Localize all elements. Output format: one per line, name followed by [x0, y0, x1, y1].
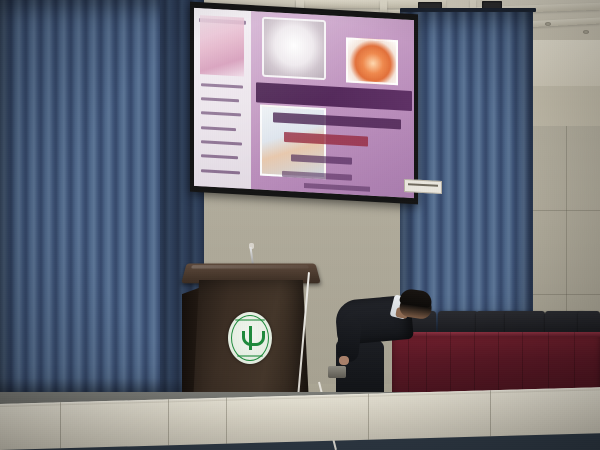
slide-left-photo	[200, 15, 245, 76]
slide-left-panel	[194, 8, 251, 189]
slide-bottom-text	[304, 183, 370, 192]
sign-text-line	[408, 183, 438, 187]
text-line	[201, 112, 241, 117]
stage-panel-seam	[490, 390, 491, 436]
shrimp-platter-photo	[346, 38, 398, 86]
text-line	[201, 97, 239, 102]
lectern-top-highlight	[191, 265, 309, 268]
stage-panel-seam	[60, 402, 61, 448]
university-emblem	[228, 312, 272, 364]
auditorium-photo: 南美白对虾成虾淡水养殖 蜀洋水产有限责任公司 “虾” 类行业资讯 项目负责人：陈…	[0, 0, 600, 450]
wall-sign	[404, 179, 442, 194]
screen-surface	[194, 8, 414, 198]
projection-screen[interactable]	[190, 2, 418, 205]
stage-curtain-left	[0, 0, 196, 412]
emblem-bottom-arc	[237, 355, 263, 357]
av-control-box	[328, 366, 346, 378]
curtain-rail	[400, 8, 536, 12]
text-line	[201, 155, 238, 160]
cooked-shrimp-dish-photo	[262, 17, 325, 80]
stage-panel-seam	[168, 399, 169, 445]
presentation-slide	[194, 8, 414, 198]
ceiling-downlight	[545, 22, 551, 26]
text-line	[201, 83, 243, 88]
slide-left-text-lines	[201, 83, 244, 174]
text-line	[201, 126, 236, 131]
text-line	[201, 140, 242, 145]
ceiling-downlight	[583, 30, 589, 34]
text-line	[201, 169, 240, 174]
presenter-hand	[339, 356, 349, 365]
slide-footer-line	[282, 171, 352, 181]
emblem-top-arc	[235, 319, 265, 321]
stage-panel-seam	[368, 394, 369, 440]
emblem-glyph-icon	[242, 326, 259, 350]
stage-panel-seam	[226, 398, 227, 444]
